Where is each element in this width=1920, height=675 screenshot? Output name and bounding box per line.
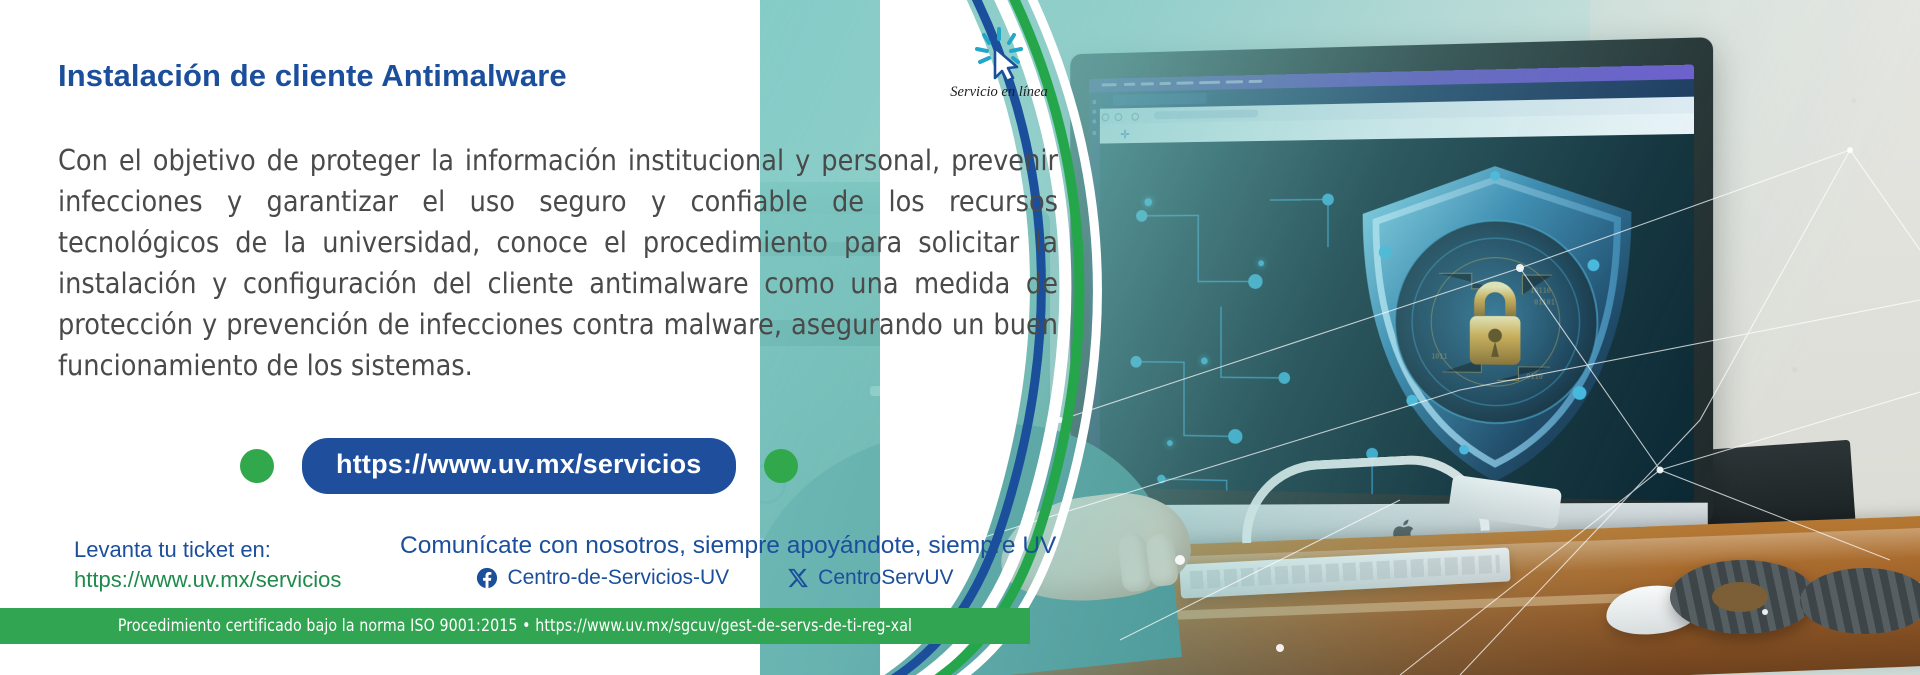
- social-links: Centro-de-Servicios-UV CentroServUV: [400, 566, 1030, 590]
- uv-antimalware-banner: ✛: [0, 0, 1920, 675]
- ticket-url-link[interactable]: https://www.uv.mx/servicios: [74, 565, 341, 595]
- green-dot-left: [240, 449, 274, 483]
- social-link-x[interactable]: CentroServUV: [787, 566, 953, 590]
- cursor-click-icon: [926, 26, 1072, 82]
- green-dot-right: [764, 449, 798, 483]
- imac-screen: ✛: [1089, 65, 1694, 502]
- coiled-phone-cord-2: [1800, 568, 1920, 634]
- facebook-icon: [476, 567, 498, 589]
- page-canvas: 1011001101 10110110: [1100, 134, 1694, 502]
- social-link-facebook[interactable]: Centro-de-Servicios-UV: [476, 566, 729, 590]
- social-heading: Comunícate con nosotros, siempre apoyánd…: [400, 530, 1030, 562]
- coiled-phone-cord: [1670, 560, 1816, 634]
- x-label: CentroServUV: [818, 566, 953, 590]
- page-title: Instalación de cliente Antimalware: [58, 58, 567, 94]
- imac-display: ✛: [1055, 46, 1705, 516]
- iso-footer-bar: Procedimiento certificado bajo la norma …: [0, 608, 1030, 644]
- services-url-button[interactable]: https://www.uv.mx/servicios: [302, 438, 736, 494]
- ticket-label: Levanta tu ticket en:: [74, 535, 341, 565]
- online-service-caption: Servicio en línea: [926, 84, 1072, 101]
- x-twitter-icon: [787, 567, 809, 589]
- ticket-block: Levanta tu ticket en: https://www.uv.mx/…: [74, 535, 341, 595]
- online-service-badge[interactable]: Servicio en línea: [926, 26, 1072, 101]
- social-block: Comunícate con nosotros, siempre apoyánd…: [400, 530, 1030, 590]
- browser-sidebar-rail: [1089, 92, 1100, 487]
- content-pane: Instalación de cliente Antimalware: [0, 0, 1060, 675]
- cta-row: https://www.uv.mx/servicios: [240, 438, 798, 494]
- body-paragraph: Con el objetivo de proteger la informaci…: [58, 140, 1058, 386]
- facebook-label: Centro-de-Servicios-UV: [507, 566, 729, 590]
- iso-footer-text: Procedimiento certificado bajo la norma …: [118, 616, 912, 636]
- screen-network-nodes: [1100, 134, 1694, 502]
